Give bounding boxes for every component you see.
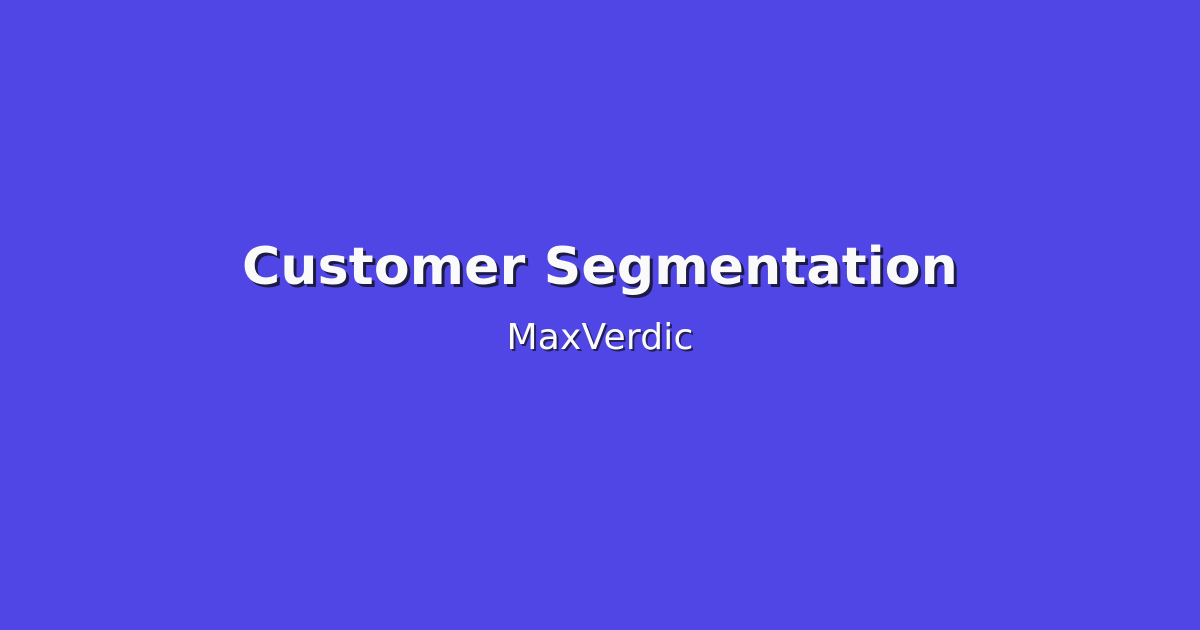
page-title: Customer Segmentation (242, 238, 958, 296)
card-text-stack: Customer Segmentation MaxVerdic (0, 238, 1200, 359)
page-subtitle: MaxVerdic (506, 318, 693, 358)
social-preview-card: Customer Segmentation MaxVerdic (0, 0, 1200, 630)
